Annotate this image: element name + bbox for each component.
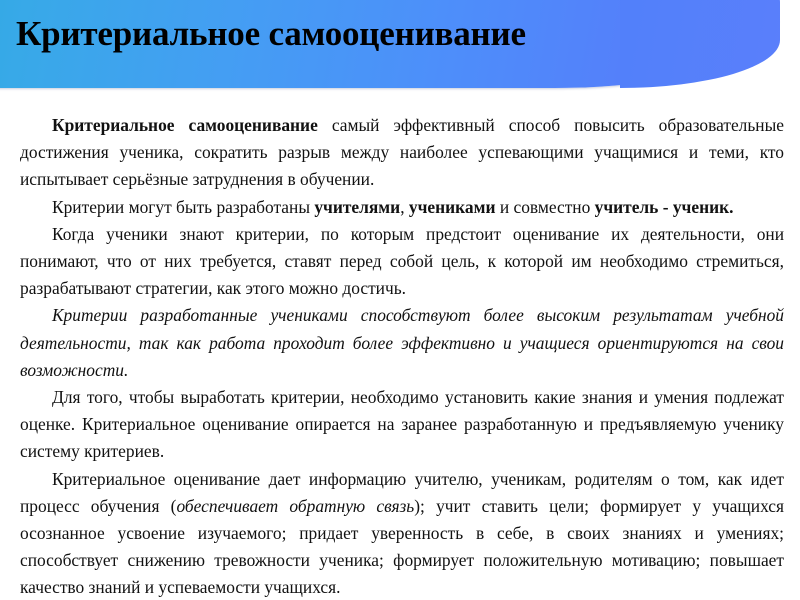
- bold-text-run: Критериальное самооценивание: [52, 115, 318, 135]
- page-title: Критериальное самооценивание: [16, 13, 526, 55]
- slide-canvas: Критериальное самооценивание Критериальн…: [0, 0, 800, 600]
- bold-text-run: учитель - ученик.: [595, 197, 734, 217]
- slide-body-text: Критериальное самооценивание самый эффек…: [20, 112, 784, 600]
- italic-text-run: обеспечивает обратную связь: [176, 496, 414, 516]
- text-run: Когда ученики знают критерии, по которым…: [20, 224, 784, 298]
- text-run: Критерии могут быть разработаны: [52, 197, 314, 217]
- italic-text-run: Критерии разработанные учениками способс…: [20, 305, 784, 379]
- bold-text-run: учениками: [409, 197, 496, 217]
- text-run: и совместно: [495, 197, 594, 217]
- body-paragraph: Когда ученики знают критерии, по которым…: [20, 221, 784, 303]
- body-paragraph: Критерии разработанные учениками способс…: [20, 302, 784, 384]
- body-paragraph: Критерии могут быть разработаны учителям…: [20, 194, 784, 221]
- body-paragraph: Для того, чтобы выработать критерии, нео…: [20, 384, 784, 466]
- body-paragraph: Критериальное оценивание дает информацию…: [20, 466, 784, 600]
- bold-text-run: учителями: [314, 197, 400, 217]
- text-run: Для того, чтобы выработать критерии, нео…: [20, 387, 784, 461]
- body-paragraph: Критериальное самооценивание самый эффек…: [20, 112, 784, 194]
- text-run: ,: [400, 197, 409, 217]
